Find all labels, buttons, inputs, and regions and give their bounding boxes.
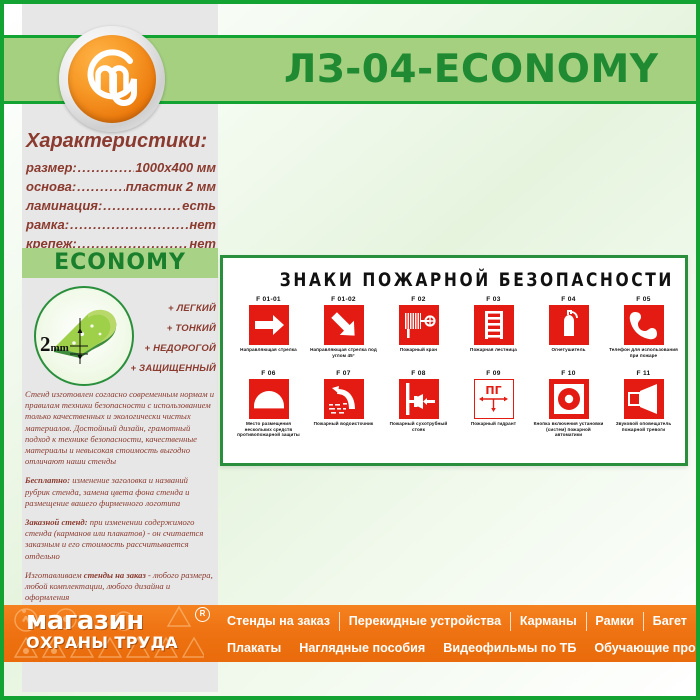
sign-f11: F 11 Звуковой оповещатель пожарной трево… <box>606 370 681 438</box>
signs-row-1: F 01-01 Направляющая стрелка F 01-02 Нап… <box>231 296 681 358</box>
dot-leader: ........................................… <box>77 179 125 194</box>
description-p3: Заказной стенд: при изменении содержимог… <box>25 517 215 562</box>
sign-f08: F 08 Пожарный сухотрубный стояк <box>381 370 456 438</box>
thickness-label: 2mm <box>40 332 69 357</box>
footer-link-custom-stands[interactable]: Стенды на заказ <box>218 614 339 628</box>
sign-caption: Кнопка включения установки (систем) пожа… <box>531 421 606 438</box>
sign-code: F 01-02 <box>306 296 381 303</box>
sign-f03: F 03 Пожарная лестница <box>456 296 531 358</box>
sign-f02: F 02 <box>381 296 456 358</box>
sign-code: F 10 <box>531 370 606 377</box>
sign-caption: Огнетушитель <box>531 347 606 353</box>
char-key: размер: <box>26 160 77 175</box>
footer-link-visual-aids[interactable]: Наглядные пособия <box>290 641 434 655</box>
fire-hose-reel-icon <box>399 305 439 345</box>
characteristics-block: Характеристики: размер: ................… <box>24 130 216 255</box>
economy-band: ECONOMY <box>22 248 218 278</box>
stand-title: ЗНАКИ ПОЖАРНОЙ БЕЗОПАСНОСТИ <box>280 269 674 291</box>
sign-code: F 04 <box>531 296 606 303</box>
m-circle-logo-icon <box>59 26 165 132</box>
sign-caption: Пожарная лестница <box>456 347 531 353</box>
char-key: рамка: <box>26 217 69 232</box>
sign-caption: Направляющая стрелка <box>231 347 306 353</box>
sign-f10: F 10 Кнопка включения установки (систем)… <box>531 370 606 438</box>
sign-caption: Пожарный сухотрубный стояк <box>381 421 456 432</box>
sign-f09: F 09 ПГ Пожарный гидрант <box>456 370 531 438</box>
thickness-value: 2 <box>40 332 51 356</box>
char-row-lamination: ламинация: .............................… <box>26 198 216 213</box>
footer-link-flip-displays[interactable]: Перекидные устройства <box>340 614 510 628</box>
sign-caption: Пожарный гидрант <box>456 421 531 427</box>
description-p3-label: Заказной стенд: <box>25 517 88 527</box>
signs-grid: F 01-01 Направляющая стрелка F 01-02 Нап… <box>231 296 681 438</box>
economy-features: + ЛЕГКИЙ + ТОНКИЙ + НЕДОРОГОЙ + ЗАЩИЩЕНН… <box>124 303 216 383</box>
site-footer: магазин ОХРАНЫ ТРУДА R Стенды на заказ П… <box>4 605 696 662</box>
page-title: ЛЗ-04-ECONOMY <box>284 47 684 93</box>
sign-f06: F 06 Место размещения нескольких средств… <box>231 370 306 438</box>
feature-item: + ЗАЩИЩЕННЫЙ <box>124 363 216 374</box>
water-source-icon <box>324 379 364 419</box>
brand-logo[interactable]: магазин ОХРАНЫ ТРУДА R <box>26 608 216 660</box>
description-block: Стенд изготовлен согласно современным но… <box>25 389 215 611</box>
footer-nav-row-2: Плакаты Наглядные пособия Видеофильмы по… <box>218 634 696 662</box>
registered-trademark-icon: R <box>195 607 210 622</box>
feature-item: + НЕДОРОГОЙ <box>124 343 216 354</box>
char-key: ламинация: <box>26 198 102 213</box>
char-row-frame: рамка: .................................… <box>26 217 216 232</box>
svg-text:ПГ: ПГ <box>485 384 501 397</box>
sign-code: F 05 <box>606 296 681 303</box>
footer-link-videos[interactable]: Видеофильмы по ТБ <box>434 641 585 655</box>
sign-code: F 01-01 <box>231 296 306 303</box>
char-value: пластик 2 мм <box>126 179 216 194</box>
sign-f04: F 04 Огнетушитель <box>531 296 606 358</box>
description-p4-pre: Изготавливаем <box>25 570 84 580</box>
char-value: нет <box>189 217 216 232</box>
sign-caption: Направляющая стрелка под углом 45° <box>306 347 381 358</box>
hydrant-pg-icon: ПГ <box>474 379 514 419</box>
sign-caption: Пожарный водоисточник <box>306 421 381 427</box>
description-p4: Изготавливаем стенды на заказ - любого р… <box>25 570 215 604</box>
char-value: 1000х400 мм <box>135 160 216 175</box>
sign-code: F 06 <box>231 370 306 377</box>
footer-link-frames[interactable]: Рамки <box>586 614 643 628</box>
description-p2: Бесплатно: изменение заголовка и названи… <box>25 475 215 509</box>
dot-leader: ........................................… <box>103 198 181 213</box>
sign-f05: F 05 Телефон для использования при пожар… <box>606 296 681 358</box>
sign-code: F 02 <box>381 296 456 303</box>
sign-code: F 08 <box>381 370 456 377</box>
sign-f0102: F 01-02 Направляющая стрелка под углом 4… <box>306 296 381 358</box>
dome-icon <box>249 379 289 419</box>
char-row-base: основа: ................................… <box>26 179 216 194</box>
sign-code: F 03 <box>456 296 531 303</box>
thickness-unit: mm <box>51 342 69 354</box>
char-value: есть <box>182 198 216 213</box>
sign-code: F 09 <box>456 370 531 377</box>
sign-code: F 07 <box>306 370 381 377</box>
description-p1: Стенд изготовлен согласно современным но… <box>25 389 215 467</box>
footer-link-pockets[interactable]: Карманы <box>511 614 586 628</box>
footer-link-training-programs[interactable]: Обучающие программы <box>585 641 696 655</box>
char-key: основа: <box>26 179 76 194</box>
sign-caption: Пожарный кран <box>381 347 456 353</box>
signs-row-2: F 06 Место размещения нескольких средств… <box>231 370 681 438</box>
footer-link-posters[interactable]: Плакаты <box>218 641 290 655</box>
description-p4-label: стенды на заказ <box>84 570 146 580</box>
description-p2-label: Бесплатно: <box>25 475 70 485</box>
dot-leader: ........................................… <box>78 160 135 175</box>
arrow-right-icon <box>249 305 289 345</box>
sign-f07: F 07 Пожарный <box>306 370 381 438</box>
characteristics-heading: Характеристики: <box>26 130 216 153</box>
dry-riser-icon <box>399 379 439 419</box>
sign-caption: Телефон для использования при пожаре <box>606 347 681 358</box>
fire-ladder-icon <box>474 305 514 345</box>
sign-caption: Место размещения нескольких средств прот… <box>231 421 306 438</box>
footer-link-baget[interactable]: Багет <box>644 614 696 628</box>
stand-preview-panel: ЗНАКИ ПОЖАРНОЙ БЕЗОПАСНОСТИ F 01-01 Напр… <box>220 255 688 466</box>
alarm-button-icon <box>549 379 589 419</box>
fire-extinguisher-icon <box>549 305 589 345</box>
arrow-diagonal-icon <box>324 305 364 345</box>
sound-alarm-icon <box>624 379 664 419</box>
footer-nav-row-1: Стенды на заказ Перекидные устройства Ка… <box>218 607 696 635</box>
sign-caption: Звуковой оповещатель пожарной тревоги <box>606 421 681 432</box>
sign-f0101: F 01-01 Направляющая стрелка <box>231 296 306 358</box>
logo-glyph <box>68 35 156 123</box>
dot-leader: ........................................… <box>70 217 188 232</box>
brand-line-1: магазин <box>26 608 216 634</box>
char-row-size: размер: ................................… <box>26 160 216 175</box>
page-root: ЛЗ-04-ECONOMY Характеристики: размер: ..… <box>0 0 700 700</box>
telephone-icon <box>624 305 664 345</box>
brand-line-2: ОХРАНЫ ТРУДА <box>26 634 216 652</box>
sign-code: F 11 <box>606 370 681 377</box>
feature-item: + ТОНКИЙ <box>124 323 216 334</box>
feature-item: + ЛЕГКИЙ <box>124 303 216 314</box>
